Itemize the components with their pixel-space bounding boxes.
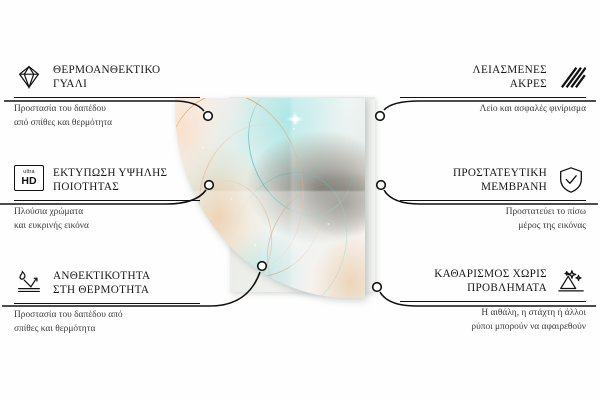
divider bbox=[14, 200, 200, 201]
feature-subtitle: Προστασία του δαπέδου από σπίθες και θερ… bbox=[14, 103, 214, 130]
feature-protective-membrane[interactable]: ΠΡΟΣΤΑΤΕΥΤΙΚΗ ΜΕΜΒΡΑΝΗ Προστατεύει το πί… bbox=[386, 163, 586, 233]
flame-thermometer-icon bbox=[14, 268, 44, 298]
divider bbox=[400, 200, 586, 201]
feature-title: ΕΚΤΥΠΩΣΗ ΥΨΗΛΗΣ ΠΟΙΟΤΗΤΑΣ bbox=[53, 166, 167, 195]
feature-heat-durability[interactable]: ΑΝΘΕΚΤΙΚΟΤΗΤΑ ΣΤΗ ΘΕΡΜΟΤΗΤΑ Προστασία το… bbox=[14, 266, 214, 336]
feature-header: ΠΡΟΣΤΑΤΕΥΤΙΚΗ ΜΕΜΒΡΑΝΗ bbox=[386, 163, 586, 197]
feature-subtitle: Λείο και ασφαλές φινίρισμα bbox=[386, 103, 586, 117]
wire-dot-membrane bbox=[377, 181, 386, 190]
feature-title: ΚΑΘΑΡΙΣΜΟΣ ΧΩΡΙΣ ΠΡΟΒΛΗΜΑΤΑ bbox=[434, 267, 547, 296]
divider bbox=[14, 97, 200, 98]
sparkle-cloth-icon bbox=[556, 266, 586, 296]
feature-heat-resistant-glass[interactable]: ΘΕΡΜΟΑΝΘΕΚΤΙΚΟ ΓΥΑΛΙ Προστασία του δαπέδ… bbox=[14, 60, 214, 130]
feature-title: ΘΕΡΜΟΑΝΘΕΚΤΙΚΟ ΓΥΑΛΙ bbox=[53, 63, 160, 92]
feature-header: ΛΕΙΑΣΜΕΝΕΣ ΑΚΡΕΣ bbox=[386, 60, 586, 94]
ultra-hd-icon: ultra HD bbox=[14, 165, 44, 195]
feature-subtitle: Προστασία του δαπέδου από σπίθες και θερ… bbox=[14, 309, 214, 336]
feature-header: ΚΑΘΑΡΙΣΜΟΣ ΧΩΡΙΣ ΠΡΟΒΛΗΜΑΤΑ bbox=[386, 264, 586, 298]
feature-subtitle: Προστατεύει το πίσω μέρος της εικόνας bbox=[386, 206, 586, 233]
feature-header: ΑΝΘΕΚΤΙΚΟΤΗΤΑ ΣΤΗ ΘΕΡΜΟΤΗΤΑ bbox=[14, 266, 214, 300]
wire-dot-cleaning bbox=[373, 283, 382, 292]
wire-dot-edges bbox=[376, 112, 385, 121]
feature-high-quality-print[interactable]: ultra HD ΕΚΤΥΠΩΣΗ ΥΨΗΛΗΣ ΠΟΙΟΤΗΤΑΣ Πλούσ… bbox=[14, 163, 214, 233]
divider bbox=[400, 97, 586, 98]
diamond-icon bbox=[14, 62, 44, 92]
feature-polished-edges[interactable]: ΛΕΙΑΣΜΕΝΕΣ ΑΚΡΕΣ Λείο και ασφαλές φινίρι… bbox=[386, 60, 586, 117]
shield-check-icon bbox=[556, 165, 586, 195]
feature-title: ΛΕΙΑΣΜΕΝΕΣ ΑΚΡΕΣ bbox=[473, 63, 547, 92]
feature-header: ultra HD ΕΚΤΥΠΩΣΗ ΥΨΗΛΗΣ ΠΟΙΟΤΗΤΑΣ bbox=[14, 163, 214, 197]
divider bbox=[400, 301, 586, 302]
infographic-canvas: ΘΕΡΜΟΑΝΘΕΚΤΙΚΟ ΓΥΑΛΙ Προστασία του δαπέδ… bbox=[0, 0, 600, 400]
feature-title: ΑΝΘΕΚΤΙΚΟΤΗΤΑ ΣΤΗ ΘΕΡΜΟΤΗΤΑ bbox=[53, 269, 150, 298]
feature-title: ΠΡΟΣΤΑΤΕΥΤΙΚΗ ΜΕΜΒΡΑΝΗ bbox=[453, 166, 547, 195]
divider bbox=[14, 303, 200, 304]
feature-header: ΘΕΡΜΟΑΝΘΕΚΤΙΚΟ ΓΥΑΛΙ bbox=[14, 60, 214, 94]
feature-subtitle: Πλούσια χρώματα και ευκρινής εικόνα bbox=[14, 206, 214, 233]
wire-dot-heat-res bbox=[258, 262, 267, 271]
diagonal-lines-icon bbox=[556, 62, 586, 92]
feature-subtitle: Η αιθάλη, η στάχτη ή άλλοι ρύποι μπορούν… bbox=[386, 307, 586, 334]
feature-easy-cleaning[interactable]: ΚΑΘΑΡΙΣΜΟΣ ΧΩΡΙΣ ΠΡΟΒΛΗΜΑΤΑ Η αιθάλη, η … bbox=[386, 264, 586, 334]
